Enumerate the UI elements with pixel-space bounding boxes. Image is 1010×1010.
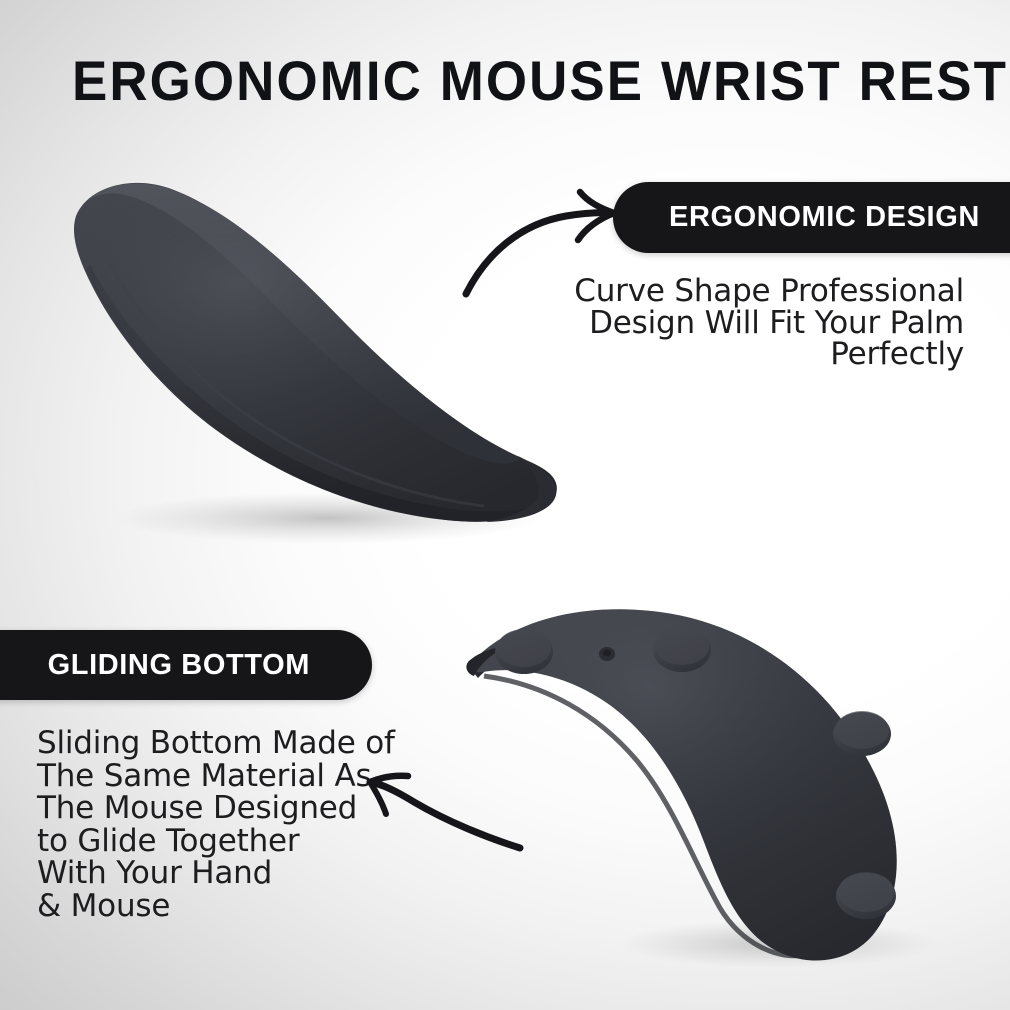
vent-hole [599, 647, 615, 661]
badge-ergonomic-design[interactable]: ERGONOMIC DESIGN [613, 182, 1010, 253]
rubber-foot-highlight [838, 872, 894, 912]
rubber-foot-highlight [497, 629, 551, 667]
description-line: & Mouse [37, 890, 457, 923]
badge-ergonomic-design-label: ERGONOMIC DESIGN [669, 201, 980, 234]
rubber-foot-highlight [835, 711, 889, 749]
badge-gliding-bottom-label: GLIDING BOTTOM [48, 649, 310, 682]
description-line: Sliding Bottom Made of [37, 727, 457, 760]
description-line: Curve Shape Professional [544, 276, 964, 308]
page-title: ERGONOMIC MOUSE WRIST REST [72, 52, 923, 110]
infographic-canvas: ERGONOMIC MOUSE WRIST REST [0, 0, 1010, 1010]
badge-gliding-bottom[interactable]: GLIDING BOTTOM [0, 630, 372, 700]
description-ergonomic-design: Curve Shape Professional Design Will Fit… [544, 276, 964, 371]
description-line: Design Will Fit Your Palm [544, 308, 964, 340]
description-line: Perfectly [544, 339, 964, 371]
wrist-rest-bottom-view [448, 596, 948, 968]
rubber-foot-highlight [655, 627, 709, 665]
